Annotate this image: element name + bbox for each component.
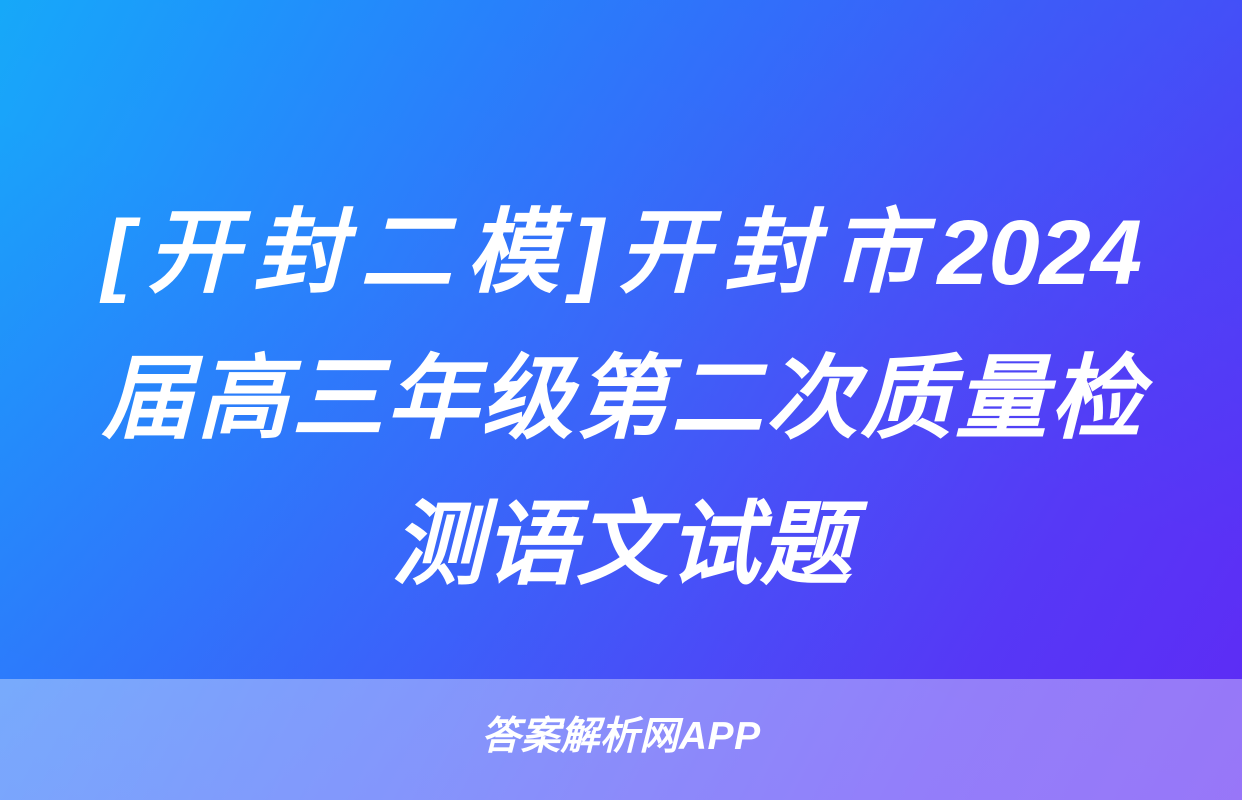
title-line-3: 测语文试题 (102, 472, 1142, 618)
watermark-band: 答案解析网APP (0, 679, 1242, 800)
title-line-3-text: 测语文试题 (102, 472, 1142, 618)
title-card: [开封二模]开封市2024 届高三年级第二次质量检 测语文试题 答案解析网APP (0, 0, 1242, 800)
page-title: [开封二模]开封市2024 届高三年级第二次质量检 测语文试题 (102, 180, 1142, 618)
watermark-label: 答案解析网APP (481, 717, 760, 756)
title-line-2-text: 届高三年级第二次质量检 (102, 326, 1142, 472)
title-line-1-text: [开封二模]开封市2024 (102, 180, 1142, 326)
title-line-2: 届高三年级第二次质量检 (102, 326, 1142, 472)
title-line-1: [开封二模]开封市2024 (102, 180, 1142, 326)
